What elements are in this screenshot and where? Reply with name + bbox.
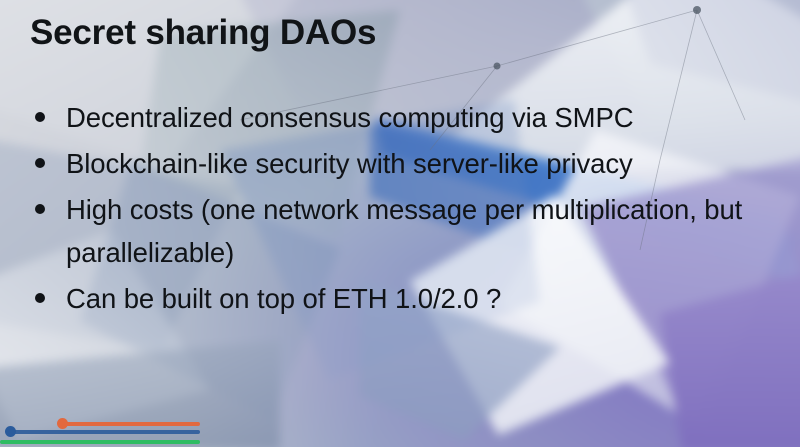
bullet-marker-icon	[35, 204, 45, 214]
green-slider-track[interactable]	[0, 440, 200, 444]
network-line-4	[497, 10, 697, 66]
blue-slider-knob[interactable]	[5, 426, 16, 437]
orange-slider-track[interactable]	[62, 422, 200, 426]
blue-slider-track[interactable]	[10, 430, 200, 434]
list-item-label: Blockchain-like security with server-lik…	[66, 148, 633, 179]
presentation-slide: Secret sharing DAOs Decentralized consen…	[0, 0, 800, 447]
list-item: Decentralized consensus computing via SM…	[22, 96, 782, 139]
bottom-slider-group[interactable]	[0, 413, 260, 447]
list-item-label: Can be built on top of ETH 1.0/2.0 ?	[66, 283, 501, 314]
bullet-marker-icon	[35, 158, 45, 168]
bullet-marker-icon	[35, 293, 45, 303]
list-item-label: Decentralized consensus computing via SM…	[66, 102, 633, 133]
list-item: Blockchain-like security with server-lik…	[22, 142, 782, 185]
list-item: High costs (one network message per mult…	[22, 188, 782, 274]
bullet-list: Decentralized consensus computing via SM…	[22, 96, 782, 323]
orange-slider-knob[interactable]	[57, 418, 68, 429]
list-item: Can be built on top of ETH 1.0/2.0 ?	[22, 277, 782, 320]
list-item-label: High costs (one network message per mult…	[66, 194, 742, 268]
network-node-1	[693, 6, 701, 14]
bullet-marker-icon	[35, 112, 45, 122]
network-node-2	[494, 63, 501, 70]
page-title: Secret sharing DAOs	[30, 13, 376, 53]
